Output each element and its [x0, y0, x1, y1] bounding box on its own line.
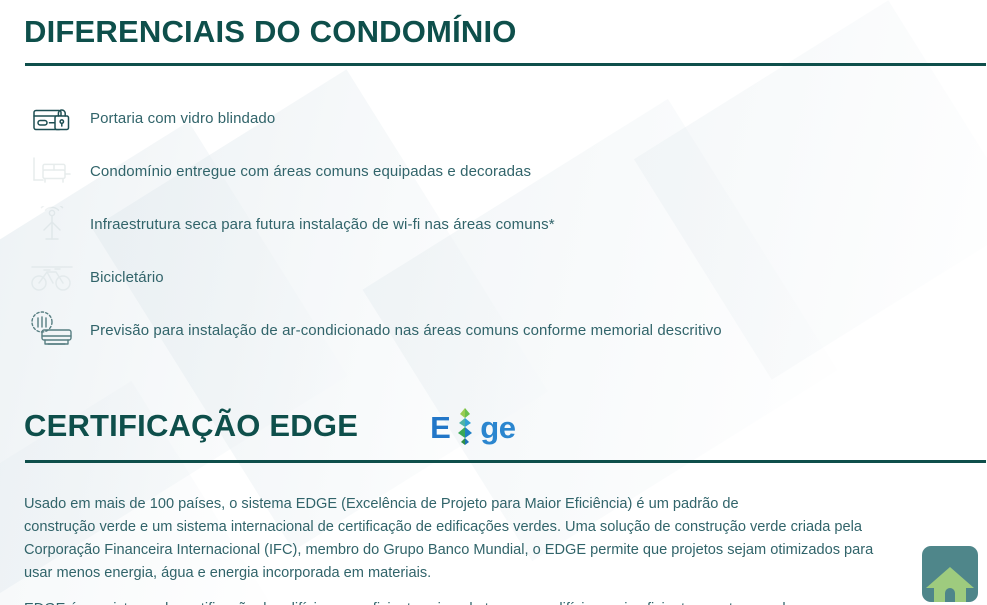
certificacao-paragraph-2: EDGE é um sistema de certificação de edi…	[24, 598, 975, 605]
certificacao-copy: Usado em mais de 100 países, o sistema E…	[0, 493, 987, 605]
feature-item-bicicletario: Bicicletário	[0, 251, 987, 304]
certificacao-title: CERTIFICAÇÃO EDGE	[0, 408, 358, 444]
copy-line: usar menos energia, água e energia incor…	[24, 562, 975, 585]
edge-logo-letter-e: E	[430, 412, 450, 443]
copy-line: EDGE é um sistema de certificação de edi…	[24, 598, 975, 605]
certificacao-heading-row: CERTIFICAÇÃO EDGE E ge	[0, 405, 987, 447]
feature-item-wifi: Infraestrutura seca para futura instalaç…	[0, 198, 987, 251]
diferenciais-section: DIFERENCIAIS DO CONDOMÍNIO Po	[0, 0, 987, 357]
shielded-glass-lobby-icon	[26, 99, 78, 139]
diferenciais-title-rule	[25, 63, 986, 66]
copy-line: construção verde e um sistema internacio…	[24, 516, 975, 539]
feature-item-portaria: Portaria com vidro blindado	[0, 92, 987, 145]
house-logo-icon	[925, 564, 975, 602]
diferenciais-feature-list: Portaria com vidro blindado Condo	[0, 92, 987, 357]
house-logo-badge	[922, 546, 978, 602]
edge-leaf-mosaic-icon	[453, 407, 477, 447]
copy-line: Corporação Financeira Internacional (IFC…	[24, 539, 975, 562]
bicycle-icon	[26, 258, 78, 298]
feature-label: Condomínio entregue com áreas comuns equ…	[90, 163, 531, 180]
certificacao-paragraph-1: Usado em mais de 100 países, o sistema E…	[24, 493, 975, 585]
edge-logo: E ge	[430, 407, 515, 447]
diferenciais-title: DIFERENCIAIS DO CONDOMÍNIO	[0, 0, 987, 50]
feature-label: Portaria com vidro blindado	[90, 110, 275, 127]
furnished-sofa-icon	[26, 152, 78, 192]
copy-line: Usado em mais de 100 países, o sistema E…	[24, 493, 975, 516]
feature-label: Bicicletário	[90, 269, 164, 286]
feature-label: Previsão para instalação de ar-condicion…	[90, 322, 722, 339]
slide-page: DIFERENCIAIS DO CONDOMÍNIO Po	[0, 0, 987, 605]
feature-item-areas-equipadas: Condomínio entregue com áreas comuns equ…	[0, 145, 987, 198]
feature-item-ar-condicionado: Previsão para instalação de ar-condicion…	[0, 304, 987, 357]
air-conditioner-icon	[26, 311, 78, 351]
edge-logo-letters-ge: ge	[480, 412, 515, 443]
certificacao-title-rule	[25, 460, 986, 463]
wifi-antenna-icon	[26, 205, 78, 245]
feature-label: Infraestrutura seca para futura instalaç…	[90, 216, 555, 233]
certificacao-section: CERTIFICAÇÃO EDGE E ge	[0, 405, 987, 605]
